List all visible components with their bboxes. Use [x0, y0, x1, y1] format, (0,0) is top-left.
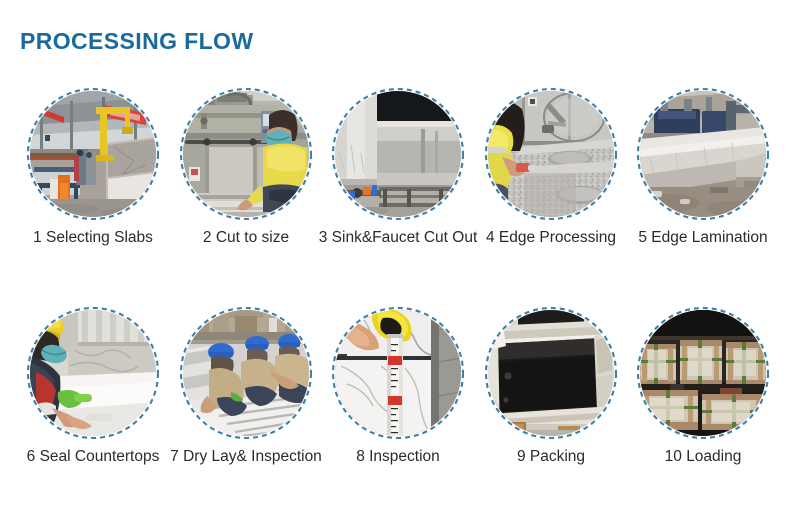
- flow-step-1[interactable]: 1 Selecting Slabs: [25, 86, 161, 222]
- flow-step-2[interactable]: 2 Cut to size: [178, 86, 314, 222]
- worker-sealing-countertop-photo: [30, 310, 156, 436]
- flow-step-2-label: 2 Cut to size: [166, 228, 326, 247]
- flow-step-8-label: 8 Inspection: [318, 447, 478, 466]
- flow-step-4[interactable]: 4 Edge Processing: [483, 86, 619, 222]
- flow-step-10[interactable]: 10 Loading: [635, 305, 771, 441]
- page-title: PROCESSING FLOW: [20, 28, 253, 55]
- tape-measure-on-marble-photo: [335, 310, 461, 436]
- processing-flow-page: PROCESSING FLOW: [0, 0, 790, 520]
- flow-step-8-circle: [330, 305, 466, 441]
- workers-dry-laying-slabs-photo: [183, 310, 309, 436]
- flow-step-10-circle: [635, 305, 771, 441]
- flow-step-8[interactable]: 8 Inspection: [330, 305, 466, 441]
- flow-step-2-circle: [178, 86, 314, 222]
- flow-step-5[interactable]: 5 Edge Lamination: [635, 86, 771, 222]
- flow-step-10-label: 10 Loading: [623, 447, 783, 466]
- flow-step-6-circle: [25, 305, 161, 441]
- flow-step-6[interactable]: 6 Seal Countertops: [25, 305, 161, 441]
- worker-grinding-countertop-edge-photo: [488, 91, 614, 217]
- flow-step-5-circle: [635, 86, 771, 222]
- flow-step-1-circle: [25, 86, 161, 222]
- flow-step-3[interactable]: 3 Sink&Faucet Cut Out: [330, 86, 466, 222]
- flow-step-5-label: 5 Edge Lamination: [623, 228, 783, 247]
- flow-step-7-label: 7 Dry Lay& Inspection: [166, 447, 326, 466]
- worker-at-bridge-saw-photo: [183, 91, 309, 217]
- flow-step-4-circle: [483, 86, 619, 222]
- black-slab-in-wooden-crate-photo: [488, 310, 614, 436]
- slab-panel-sink-cutout-photo: [335, 91, 461, 217]
- flow-step-7[interactable]: 7 Dry Lay& Inspection: [178, 305, 314, 441]
- crates-loaded-in-container-photo: [640, 310, 766, 436]
- factory-crane-selecting-slabs-photo: [30, 91, 156, 217]
- flow-step-1-label: 1 Selecting Slabs: [13, 228, 173, 247]
- flow-step-4-label: 4 Edge Processing: [471, 228, 631, 247]
- flow-step-9-circle: [483, 305, 619, 441]
- flow-step-9[interactable]: 9 Packing: [483, 305, 619, 441]
- flow-step-9-label: 9 Packing: [471, 447, 631, 466]
- flow-step-6-label: 6 Seal Countertops: [13, 447, 173, 466]
- flow-step-7-circle: [178, 305, 314, 441]
- flow-step-3-label: 3 Sink&Faucet Cut Out: [318, 228, 478, 247]
- laminated-thick-stone-edge-photo: [640, 91, 766, 217]
- flow-step-3-circle: [330, 86, 466, 222]
